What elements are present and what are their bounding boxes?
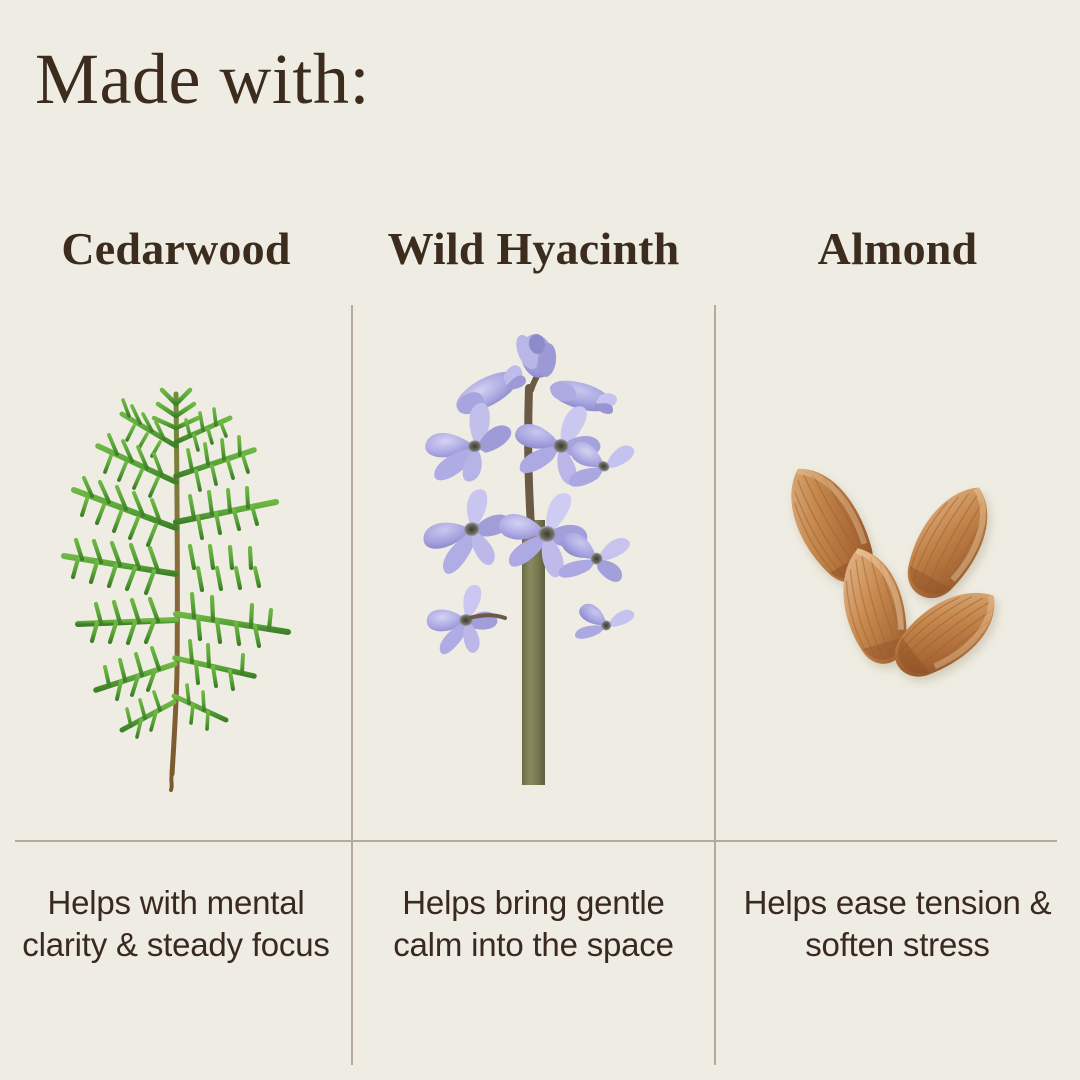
ingredient-column-wild-hyacinth: Wild Hyacinth [352,0,715,1080]
ingredient-image-almond [715,330,1080,820]
ingredient-column-cedarwood: Cedarwood [0,0,352,1080]
ingredient-description-wild-hyacinth: Helps bring gentle calm into the space [366,882,701,966]
ingredient-description-cedarwood: Helps with mental clarity & steady focus [14,882,338,966]
ingredient-title-cedarwood: Cedarwood [0,222,352,275]
ingredient-title-wild-hyacinth: Wild Hyacinth [352,222,715,275]
ingredient-columns: Cedarwood [0,0,1080,1080]
ingredient-poster: Made with: Cedarwood [0,0,1080,1080]
ingredient-image-cedarwood [0,330,352,820]
ingredient-title-almond: Almond [715,222,1080,275]
ingredient-column-almond: Almond [715,0,1080,1080]
ingredient-description-almond: Helps ease tension & soften stress [729,882,1066,966]
hyacinth-flower-icon [419,330,649,800]
cedar-sprig-icon [26,342,326,792]
almond-nuts-icon [753,448,1043,698]
ingredient-image-wild-hyacinth [352,330,715,820]
